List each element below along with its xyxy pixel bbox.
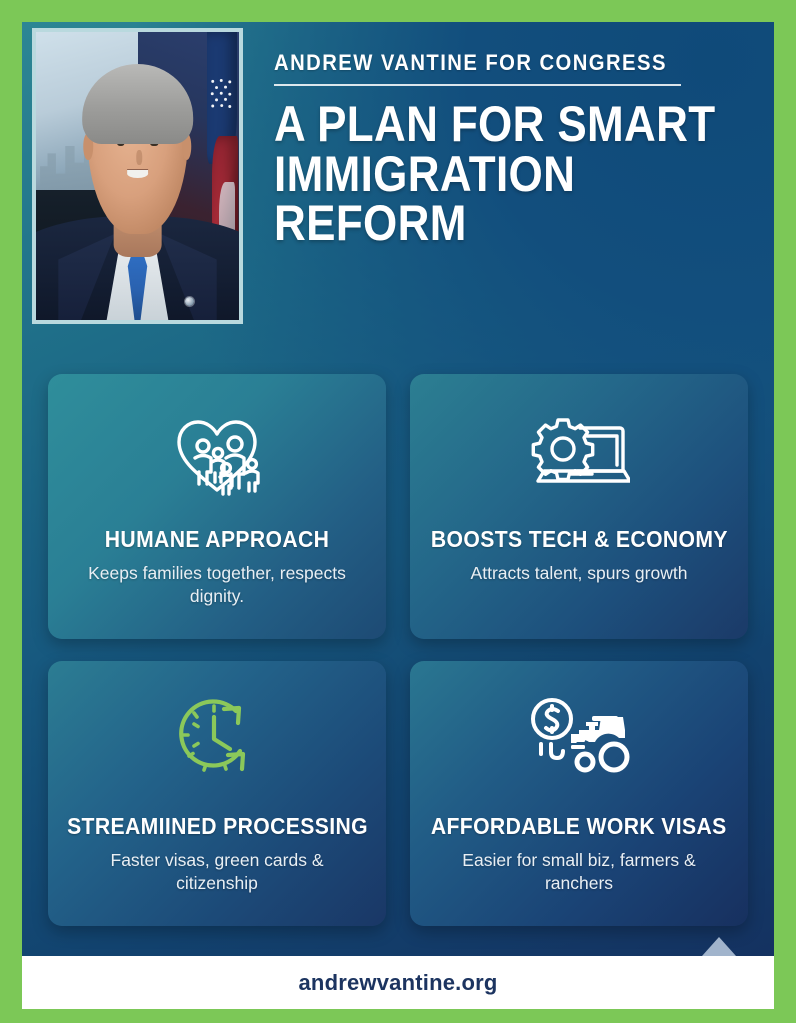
card-title: AFFORDABLE WORK VISAS <box>431 813 727 840</box>
laptop-gear-icon <box>528 408 630 496</box>
card-title: HUMANE APPROACH <box>105 526 330 553</box>
candidate-portrait <box>32 28 243 324</box>
card-title: BOOSTS TECH & ECONOMY <box>431 526 728 553</box>
footer: andrewvantine.org <box>22 956 774 1009</box>
poster: ANDREW VANTINE FOR CONGRESS A PLAN FOR S… <box>0 0 796 1023</box>
header: ANDREW VANTINE FOR CONGRESS A PLAN FOR S… <box>22 22 774 334</box>
icon-slot <box>169 400 265 504</box>
icon-slot <box>170 687 264 791</box>
lapel-pin-icon <box>185 297 194 306</box>
nose <box>136 150 142 165</box>
card-body: Attracts talent, spurs growth <box>471 562 688 585</box>
icon-slot <box>523 687 635 791</box>
title-line-1: A PLAN FOR SMART <box>274 100 709 150</box>
benefit-card-grid: HUMANE APPROACH Keeps families together,… <box>48 374 748 926</box>
card-body: Faster visas, green cards & citizenship <box>82 849 352 896</box>
clock-arrows-icon <box>170 693 264 785</box>
icon-slot <box>528 400 630 504</box>
benefit-card-streamlined-processing: STREAMIINED PROCESSING Faster visas, gre… <box>48 661 386 926</box>
campaign-kicker: ANDREW VANTINE FOR CONGRESS <box>274 50 719 76</box>
footer-notch <box>702 937 736 956</box>
benefit-card-boosts-tech-economy: BOOSTS TECH & ECONOMY Attracts talent, s… <box>410 374 748 639</box>
website-url[interactable]: andrewvantine.org <box>299 970 498 996</box>
card-body: Easier for small biz, farmers & ranchers <box>444 849 714 896</box>
card-body: Keeps families together, respects dignit… <box>82 562 352 609</box>
title-line-2: IMMIGRATION <box>274 150 709 200</box>
dollar-tractor-icon <box>523 694 635 784</box>
smile <box>127 170 147 178</box>
header-divider <box>274 84 681 86</box>
benefit-card-affordable-work-visas: AFFORDABLE WORK VISAS Easier for small b… <box>410 661 748 926</box>
family-heart-icon <box>169 406 265 498</box>
hair <box>82 64 194 145</box>
title-line-3: REFORM <box>274 199 709 249</box>
header-text: ANDREW VANTINE FOR CONGRESS A PLAN FOR S… <box>274 50 768 249</box>
page-title: A PLAN FOR SMART IMMIGRATION REFORM <box>274 100 709 249</box>
portrait-subject <box>36 32 239 320</box>
portrait-scene <box>36 32 239 320</box>
card-title: STREAMIINED PROCESSING <box>67 813 368 840</box>
benefit-card-humane-approach: HUMANE APPROACH Keeps families together,… <box>48 374 386 639</box>
